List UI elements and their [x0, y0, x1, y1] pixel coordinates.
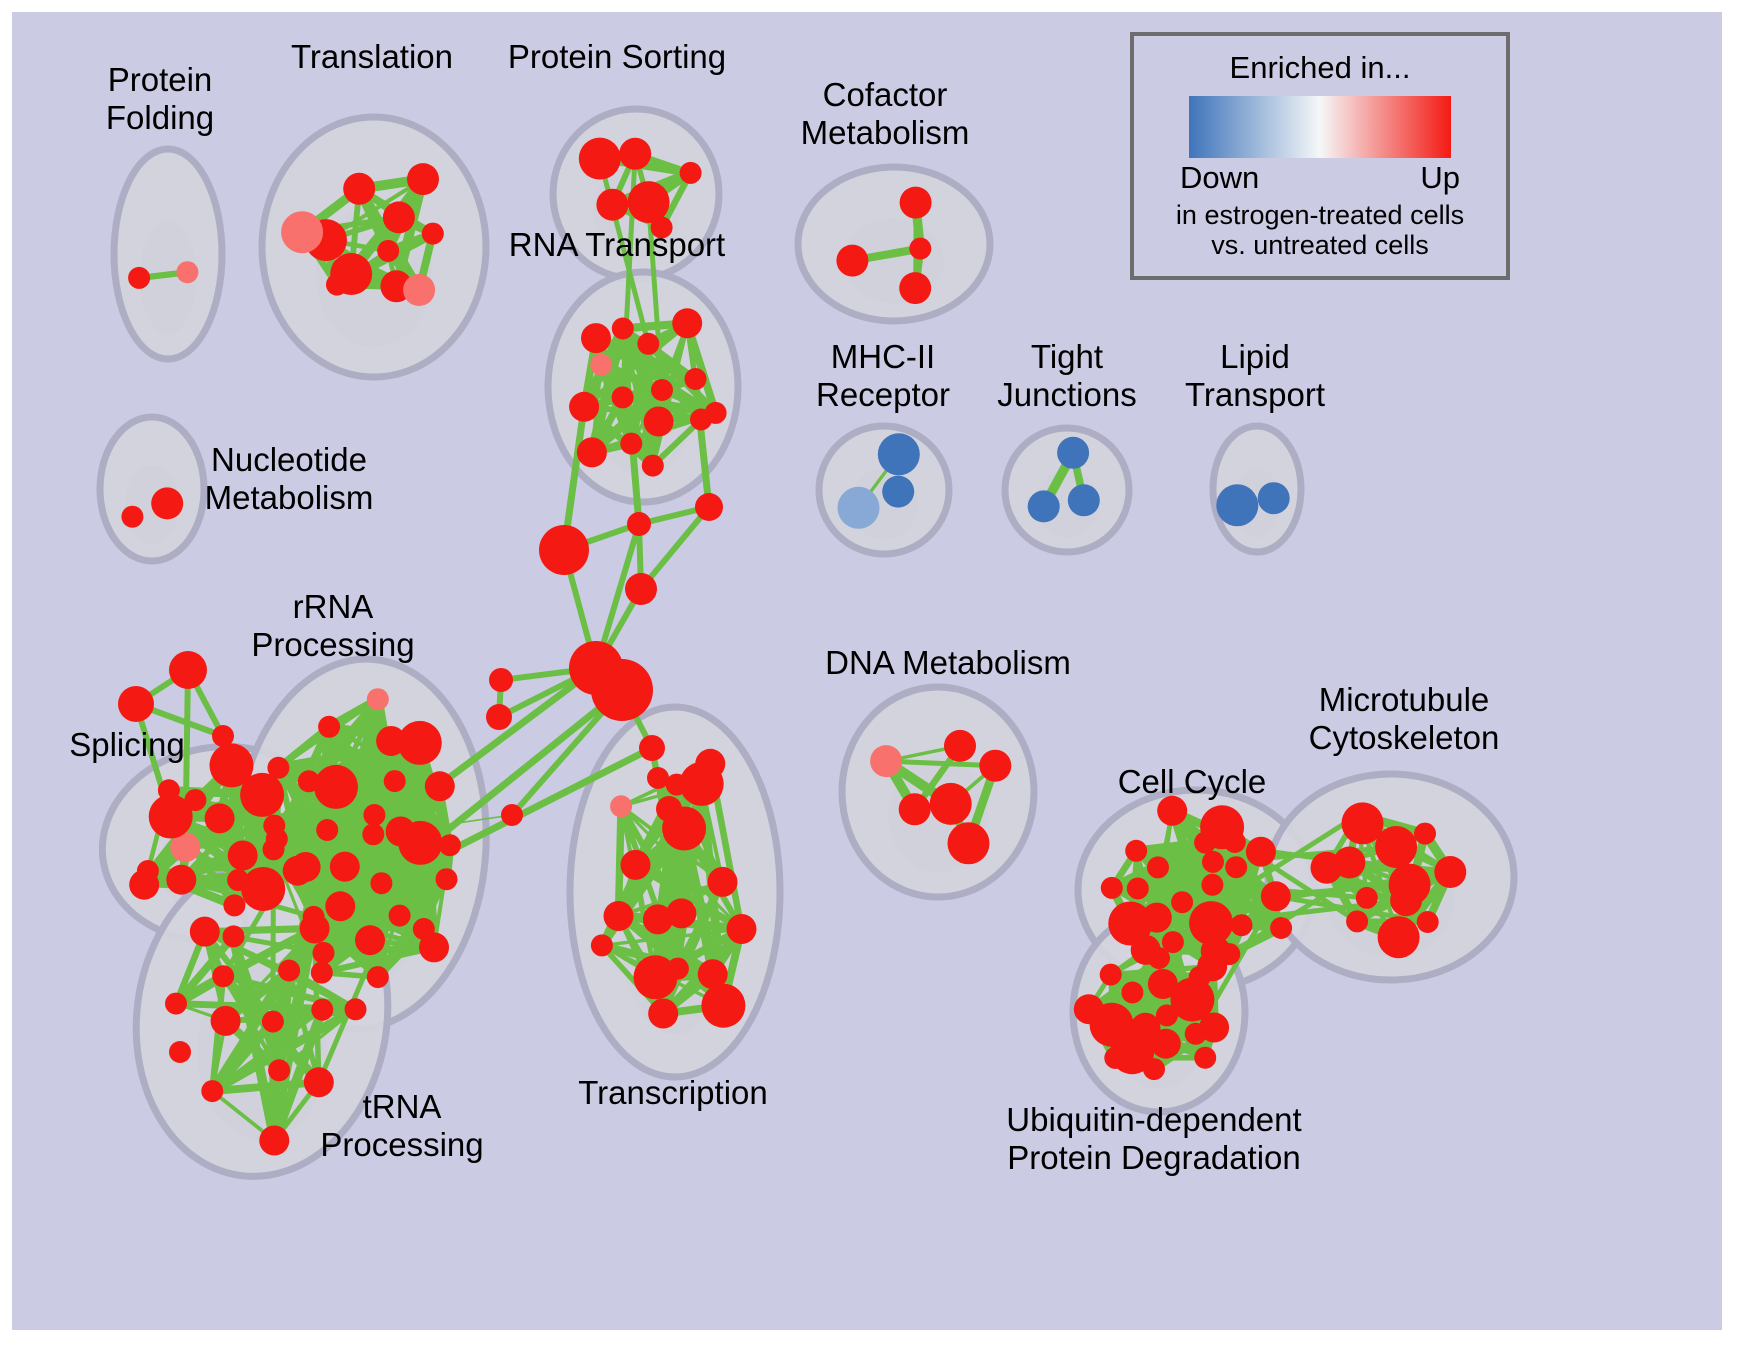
- network-node[interactable]: [882, 476, 914, 508]
- network-node[interactable]: [304, 1067, 334, 1097]
- network-node[interactable]: [647, 767, 669, 789]
- network-node[interactable]: [637, 333, 659, 355]
- network-node[interactable]: [680, 162, 702, 184]
- cluster-label-dna_metabolism: DNA Metabolism: [825, 644, 1071, 681]
- network-node[interactable]: [169, 651, 207, 689]
- cluster-label-rrna_processing: rRNAProcessing: [251, 588, 414, 663]
- network-node[interactable]: [909, 238, 931, 260]
- network-node[interactable]: [899, 793, 931, 825]
- cluster-label-line: Receptor: [816, 376, 950, 413]
- network-node[interactable]: [201, 1080, 223, 1102]
- cluster-label-protein_sorting: Protein Sorting: [508, 38, 726, 75]
- cluster-label-line: Cofactor: [823, 76, 948, 113]
- network-node[interactable]: [367, 688, 389, 710]
- legend-low-label: Down: [1180, 160, 1259, 196]
- network-node[interactable]: [948, 822, 990, 864]
- network-node[interactable]: [311, 999, 333, 1021]
- network-node[interactable]: [577, 437, 607, 467]
- network-node[interactable]: [345, 998, 367, 1020]
- network-node[interactable]: [1390, 884, 1422, 916]
- network-node[interactable]: [870, 745, 902, 777]
- network-node[interactable]: [129, 870, 159, 900]
- network-node[interactable]: [1231, 914, 1253, 936]
- network-node[interactable]: [644, 407, 674, 437]
- network-node[interactable]: [604, 901, 634, 931]
- network-node[interactable]: [501, 804, 523, 826]
- network-node[interactable]: [1216, 484, 1258, 526]
- network-node[interactable]: [398, 721, 442, 765]
- network-node[interactable]: [619, 138, 651, 170]
- network-node[interactable]: [1311, 852, 1343, 884]
- cluster-label-line: Metabolism: [801, 114, 970, 151]
- legend-caption: in estrogen-treated cells vs. untreated …: [1134, 200, 1506, 260]
- cluster-label-line: Lipid: [1220, 338, 1290, 375]
- network-node[interactable]: [436, 868, 458, 890]
- network-node[interactable]: [591, 934, 613, 956]
- cluster-label-line: tRNA: [363, 1088, 442, 1125]
- network-node[interactable]: [596, 189, 628, 221]
- network-node[interactable]: [612, 386, 634, 408]
- network-node[interactable]: [1104, 1047, 1126, 1069]
- network-node[interactable]: [330, 852, 360, 882]
- network-node[interactable]: [1356, 887, 1378, 909]
- cluster-label-line: Transport: [1185, 376, 1325, 413]
- network-node[interactable]: [695, 493, 723, 521]
- network-node[interactable]: [210, 743, 254, 787]
- network-node[interactable]: [422, 223, 444, 245]
- legend-color-ramp: [1189, 96, 1451, 158]
- network-node[interactable]: [612, 318, 634, 340]
- network-node[interactable]: [367, 966, 389, 988]
- network-node[interactable]: [1346, 910, 1368, 932]
- network-node[interactable]: [184, 789, 206, 811]
- network-node[interactable]: [639, 735, 665, 761]
- network-node[interactable]: [311, 962, 333, 984]
- legend-title: Enriched in...: [1134, 50, 1506, 86]
- network-node[interactable]: [1157, 796, 1187, 826]
- network-node[interactable]: [878, 433, 920, 475]
- network-node[interactable]: [1225, 856, 1247, 878]
- cluster-label-line: Metabolism: [205, 479, 374, 516]
- cluster-label-line: MHC-II: [831, 338, 935, 375]
- network-node[interactable]: [190, 917, 220, 947]
- network-node[interactable]: [591, 659, 653, 721]
- network-node[interactable]: [930, 783, 972, 825]
- network-node[interactable]: [1434, 856, 1466, 888]
- network-node[interactable]: [298, 770, 320, 792]
- network-node[interactable]: [900, 187, 932, 219]
- network-node[interactable]: [263, 838, 285, 860]
- network-node[interactable]: [643, 904, 673, 934]
- network-node[interactable]: [165, 993, 187, 1015]
- network-node[interactable]: [1100, 964, 1122, 986]
- network-node[interactable]: [1347, 804, 1369, 826]
- cluster-label-line: Microtubule: [1319, 681, 1490, 718]
- network-node[interactable]: [1197, 951, 1227, 981]
- network-node[interactable]: [1270, 917, 1292, 939]
- network-node[interactable]: [268, 1059, 290, 1081]
- cluster-label-line: Tight: [1031, 338, 1103, 375]
- network-node[interactable]: [899, 272, 931, 304]
- network-node[interactable]: [579, 138, 621, 180]
- network-node[interactable]: [1194, 1047, 1216, 1069]
- network-node[interactable]: [979, 750, 1011, 782]
- network-node[interactable]: [169, 1041, 191, 1063]
- network-node[interactable]: [313, 942, 335, 964]
- network-node[interactable]: [166, 865, 196, 895]
- cluster-label-line: Splicing: [69, 726, 185, 763]
- network-node[interactable]: [223, 925, 245, 947]
- cluster-label-cell_cycle: Cell Cycle: [1118, 763, 1267, 800]
- network-node[interactable]: [489, 668, 513, 692]
- network-node[interactable]: [326, 274, 348, 296]
- network-node[interactable]: [1028, 490, 1060, 522]
- network-node[interactable]: [278, 960, 300, 982]
- network-node[interactable]: [1068, 484, 1100, 516]
- network-node[interactable]: [370, 872, 392, 894]
- network-node[interactable]: [262, 1011, 284, 1033]
- cluster-label-line: Cytoskeleton: [1309, 719, 1500, 756]
- network-node[interactable]: [403, 274, 435, 306]
- cluster-label-line: Protein Sorting: [508, 38, 726, 75]
- network-node[interactable]: [708, 867, 738, 897]
- cluster-label-line: Cell Cycle: [1118, 763, 1267, 800]
- network-node[interactable]: [398, 821, 442, 865]
- network-node[interactable]: [625, 573, 657, 605]
- network-node[interactable]: [1162, 931, 1184, 953]
- network-node[interactable]: [539, 525, 589, 575]
- network-node[interactable]: [121, 506, 143, 528]
- cluster-label-ubiquitin_degradation: Ubiquitin-dependentProtein Degradation: [1006, 1101, 1301, 1176]
- cluster-label-line: Processing: [251, 626, 414, 663]
- network-node[interactable]: [627, 512, 651, 536]
- cluster-label-line: Nucleotide: [211, 441, 367, 478]
- network-node[interactable]: [389, 905, 411, 927]
- network-node[interactable]: [363, 804, 385, 826]
- cluster-label-line: Protein Degradation: [1007, 1139, 1301, 1176]
- network-node[interactable]: [355, 925, 385, 955]
- cluster-label-rna_transport: RNA Transport: [509, 226, 725, 263]
- network-node[interactable]: [648, 999, 678, 1029]
- network-node[interactable]: [621, 850, 651, 880]
- network-node[interactable]: [419, 932, 449, 962]
- network-node[interactable]: [318, 716, 340, 738]
- network-node[interactable]: [634, 955, 678, 999]
- network-node[interactable]: [118, 686, 154, 722]
- network-node[interactable]: [325, 891, 355, 921]
- network-node[interactable]: [300, 914, 330, 944]
- network-node[interactable]: [1121, 982, 1143, 1004]
- network-node[interactable]: [425, 771, 455, 801]
- cluster-label-line: Transcription: [578, 1074, 768, 1111]
- cluster-label-tight_junctions: TightJunctions: [997, 338, 1136, 413]
- network-node[interactable]: [377, 240, 399, 262]
- network-node[interactable]: [701, 984, 745, 1028]
- cluster-label-microtubule_cytoskeleton: MicrotubuleCytoskeleton: [1309, 681, 1500, 756]
- color-legend: Enriched in... Down Up in estrogen-treat…: [1130, 32, 1510, 280]
- cluster-label-mhc_ii_receptor: MHC-IIReceptor: [816, 338, 950, 413]
- network-node[interactable]: [1127, 878, 1149, 900]
- network-node[interactable]: [642, 455, 664, 477]
- network-node[interactable]: [610, 795, 632, 817]
- cluster-label-line: Junctions: [997, 376, 1136, 413]
- cluster-label-line: Folding: [106, 99, 214, 136]
- network-node[interactable]: [695, 749, 725, 779]
- network-node[interactable]: [212, 965, 234, 987]
- legend-caption-line1: in estrogen-treated cells: [1134, 200, 1506, 230]
- network-node[interactable]: [158, 779, 180, 801]
- network-node[interactable]: [1261, 881, 1291, 911]
- network-node[interactable]: [727, 914, 757, 944]
- network-node[interactable]: [569, 392, 599, 422]
- network-node[interactable]: [672, 308, 702, 338]
- network-node[interactable]: [1378, 916, 1420, 958]
- network-node[interactable]: [223, 894, 245, 916]
- network-node[interactable]: [620, 433, 642, 455]
- cluster-label-cofactor_metabolism: CofactorMetabolism: [801, 76, 970, 151]
- legend-caption-line2: vs. untreated cells: [1134, 230, 1506, 260]
- network-node[interactable]: [1147, 856, 1169, 878]
- network-node[interactable]: [685, 368, 707, 390]
- network-node[interactable]: [176, 261, 198, 283]
- network-node[interactable]: [705, 402, 727, 424]
- cluster-label-line: rRNA: [293, 588, 374, 625]
- network-node[interactable]: [1125, 840, 1147, 862]
- network-node[interactable]: [151, 487, 183, 519]
- cluster-label-line: RNA Transport: [509, 226, 725, 263]
- network-node[interactable]: [1057, 437, 1089, 469]
- network-node[interactable]: [1258, 482, 1290, 514]
- cluster-label-protein_folding: ProteinFolding: [106, 61, 214, 136]
- cluster-label-nucleotide_metabolism: NucleotideMetabolism: [205, 441, 374, 516]
- network-node[interactable]: [205, 803, 235, 833]
- network-node[interactable]: [212, 725, 234, 747]
- cluster-label-line: Processing: [320, 1126, 483, 1163]
- network-node[interactable]: [590, 354, 612, 376]
- network-canvas: ProteinFoldingTranslationProtein Sorting…: [12, 12, 1722, 1330]
- network-node[interactable]: [241, 867, 285, 911]
- cluster-label-line: Protein: [108, 61, 213, 98]
- network-node[interactable]: [316, 819, 338, 841]
- cluster-label-line: Ubiquitin-dependent: [1006, 1101, 1301, 1138]
- network-node[interactable]: [581, 323, 611, 353]
- cluster-label-line: DNA Metabolism: [825, 644, 1071, 681]
- network-node[interactable]: [128, 267, 150, 289]
- cluster-label-transcription: Transcription: [578, 1074, 768, 1111]
- network-node[interactable]: [1417, 911, 1439, 933]
- cluster-label-line: Translation: [291, 38, 453, 75]
- network-node[interactable]: [1414, 823, 1436, 845]
- network-node[interactable]: [267, 757, 289, 779]
- network-node[interactable]: [228, 841, 258, 871]
- network-node[interactable]: [439, 834, 461, 856]
- network-node[interactable]: [283, 856, 313, 886]
- network-node[interactable]: [384, 770, 406, 792]
- network-node[interactable]: [656, 796, 682, 822]
- network-node[interactable]: [407, 163, 439, 195]
- network-node[interactable]: [838, 487, 880, 529]
- network-node[interactable]: [1143, 1058, 1165, 1080]
- network-node[interactable]: [211, 1006, 241, 1036]
- network-node[interactable]: [1201, 874, 1223, 896]
- network-node[interactable]: [1151, 1029, 1181, 1059]
- network-node[interactable]: [1200, 805, 1244, 849]
- network-node[interactable]: [1074, 994, 1104, 1024]
- network-node[interactable]: [651, 379, 673, 401]
- cluster-label-lipid_transport: LipidTransport: [1185, 338, 1325, 413]
- network-node[interactable]: [1101, 877, 1123, 899]
- network-node[interactable]: [343, 173, 375, 205]
- cluster-label-translation: Translation: [291, 38, 453, 75]
- network-node[interactable]: [362, 823, 384, 845]
- network-edge: [618, 806, 621, 916]
- network-node[interactable]: [944, 730, 976, 762]
- network-node[interactable]: [383, 201, 415, 233]
- network-node[interactable]: [1171, 891, 1193, 913]
- network-node[interactable]: [1246, 837, 1276, 867]
- network-node[interactable]: [1202, 851, 1224, 873]
- network-node[interactable]: [1199, 1013, 1229, 1043]
- network-node[interactable]: [281, 211, 323, 253]
- network-node[interactable]: [836, 245, 868, 277]
- network-node[interactable]: [314, 765, 358, 809]
- cluster-label-splicing: Splicing: [69, 726, 185, 763]
- network-node[interactable]: [259, 1126, 289, 1156]
- network-node[interactable]: [486, 704, 512, 730]
- legend-high-label: Up: [1420, 160, 1460, 196]
